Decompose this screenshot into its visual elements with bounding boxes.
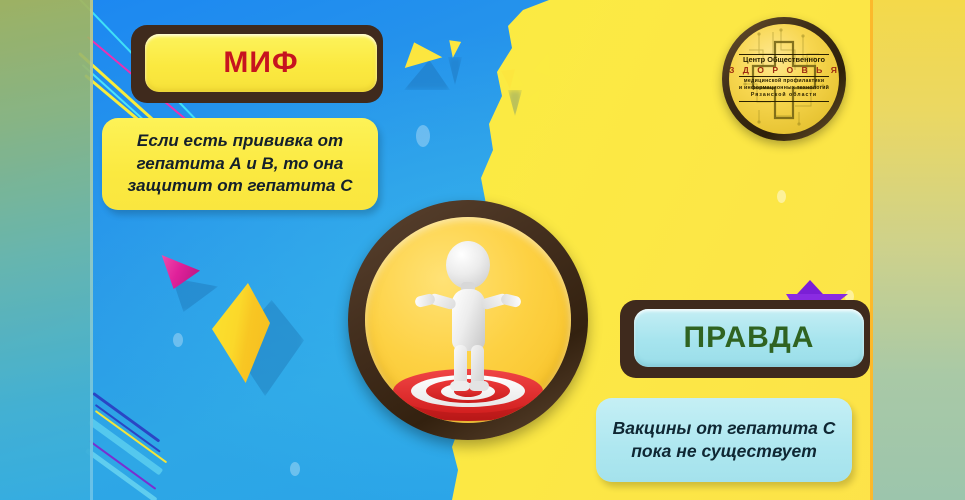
truth-banner-label: ПРАВДА xyxy=(684,321,815,355)
left-border-strip xyxy=(0,0,93,500)
truth-statement-text: Вакцины от гепатита С пока не существует xyxy=(610,417,838,463)
yellow-triangle-3 xyxy=(501,69,517,89)
decorative-oval-2 xyxy=(416,125,430,147)
truth-banner: ПРАВДА xyxy=(620,300,870,378)
figure-hand-left xyxy=(414,293,436,309)
logo-line-4: и информационных технологий xyxy=(729,85,839,91)
figure-foot-left xyxy=(450,381,470,391)
decorative-oval-3 xyxy=(290,462,300,476)
myth-statement-text: Если есть прививка от гепатита А и В, то… xyxy=(116,130,364,197)
myth-statement-bubble: Если есть прививка от гепатита А и В, то… xyxy=(102,118,378,210)
right-border-strip xyxy=(872,0,965,500)
myth-banner-face: МИФ xyxy=(145,34,377,92)
center-medallion xyxy=(348,200,588,440)
figure-hand-right xyxy=(500,293,522,309)
poster-canvas: МИФ Если есть прививка от гепатита А и В… xyxy=(0,0,965,500)
myth-banner-label: МИФ xyxy=(223,46,298,80)
myth-banner: МИФ xyxy=(131,25,383,103)
truth-banner-face: ПРАВДА xyxy=(634,309,864,367)
right-strip-edge xyxy=(870,0,873,500)
decorative-oval-1 xyxy=(173,333,183,347)
logo-line-1: Центр Общественного xyxy=(729,55,839,64)
left-strip-edge xyxy=(90,0,93,500)
organization-logo: Центр Общественного З Д О Р О В Ь Я меди… xyxy=(722,17,846,141)
logo-line-5: Рязанской области xyxy=(729,92,839,98)
figure-torso xyxy=(452,289,485,351)
logo-line-2: З Д О Р О В Ь Я xyxy=(729,65,839,75)
decorative-oval-4 xyxy=(777,190,786,203)
truth-statement-bubble: Вакцины от гепатита С пока не существует xyxy=(596,398,852,482)
person-shrugging-on-target-icon xyxy=(408,241,528,391)
left-border-strip-inner xyxy=(0,0,93,500)
logo-divider-bottom xyxy=(739,101,829,102)
logo-inner-disc: Центр Общественного З Д О Р О В Ь Я меди… xyxy=(729,24,839,134)
yellow-triangle-2 xyxy=(447,40,461,59)
logo-line-3: медицинской профилактики xyxy=(729,78,839,84)
center-medallion-inner xyxy=(365,217,571,423)
figure-foot-right xyxy=(469,381,489,391)
